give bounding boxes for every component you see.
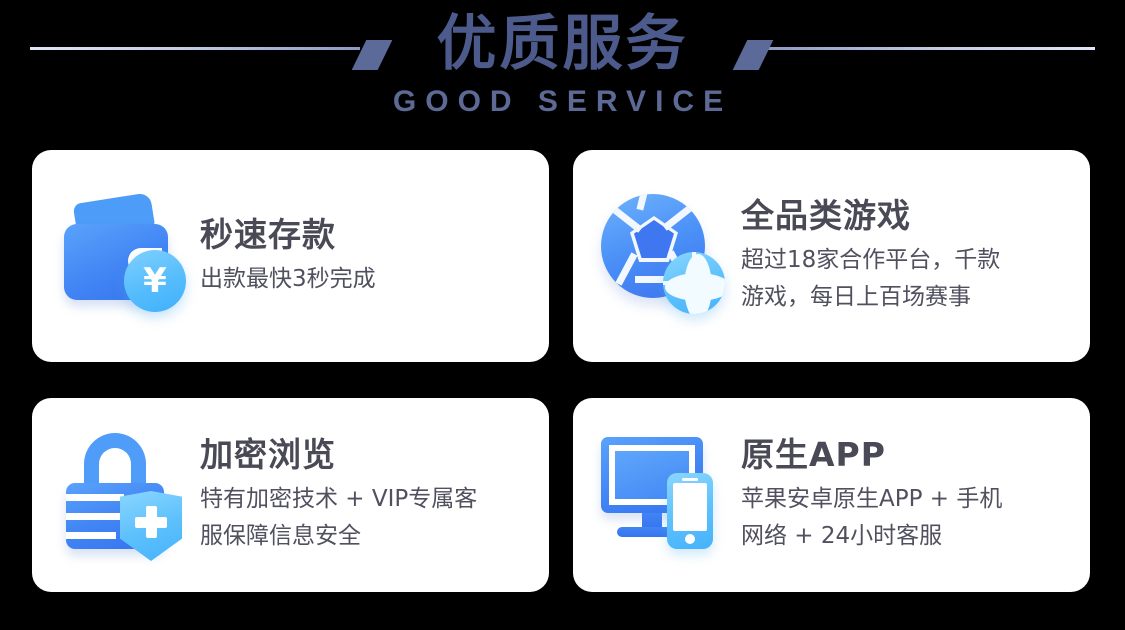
wallet-coin-icon: ¥ bbox=[58, 190, 190, 322]
monitor-phone-icon bbox=[599, 429, 731, 561]
header-text-block: 优质服务 GOOD SERVICE bbox=[0, 6, 1125, 119]
soccer-seam bbox=[611, 206, 642, 232]
lock-shield-icon bbox=[58, 429, 190, 561]
yen-symbol: ¥ bbox=[143, 264, 167, 298]
card-description: 超过18家合作平台，千款 游戏，每日上百场赛事 bbox=[741, 242, 1080, 316]
feature-card-encryption[interactable]: 加密浏览 特有加密技术 + VIP专属客 服保障信息安全 bbox=[32, 398, 549, 592]
card-description: 出款最快3秒完成 bbox=[200, 261, 539, 298]
page-subtitle: GOOD SERVICE bbox=[0, 85, 1125, 119]
feature-card-grid: ¥ 秒速存款 出款最快3秒完成 bbox=[32, 150, 1093, 592]
basketball-icon bbox=[663, 252, 725, 314]
card-description-line: 超过18家合作平台，千款 bbox=[741, 242, 1080, 279]
card-title: 加密浏览 bbox=[200, 435, 539, 475]
soccer-basketball-icon bbox=[599, 190, 731, 322]
phone-home-button bbox=[685, 534, 695, 544]
lock-slot bbox=[66, 494, 124, 501]
banner-header: 优质服务 GOOD SERVICE bbox=[0, 0, 1125, 145]
card-text-native-app: 原生APP 苹果安卓原生APP + 手机 网络 + 24小时客服 bbox=[741, 435, 1080, 555]
promo-banner: 优质服务 GOOD SERVICE ¥ 秒速存款 出款最快3秒完成 bbox=[0, 0, 1125, 630]
card-text-encryption: 加密浏览 特有加密技术 + VIP专属客 服保障信息安全 bbox=[200, 435, 539, 555]
card-description-line: 网络 + 24小时客服 bbox=[741, 518, 1080, 555]
card-description-line: 游戏，每日上百场赛事 bbox=[741, 279, 1080, 316]
card-title: 全品类游戏 bbox=[741, 196, 1080, 236]
card-text-deposit: 秒速存款 出款最快3秒完成 bbox=[200, 215, 539, 298]
page-title: 优质服务 bbox=[0, 6, 1125, 82]
cross-icon bbox=[135, 506, 167, 538]
phone-icon bbox=[667, 473, 713, 549]
feature-card-games[interactable]: 全品类游戏 超过18家合作平台，千款 游戏，每日上百场赛事 bbox=[573, 150, 1090, 362]
card-description-line: 服保障信息安全 bbox=[200, 518, 539, 555]
basketball-curve bbox=[665, 273, 725, 301]
card-description-line: 出款最快3秒完成 bbox=[200, 261, 539, 298]
card-description-line: 特有加密技术 + VIP专属客 bbox=[200, 481, 539, 518]
phone-speaker bbox=[682, 478, 698, 481]
feature-card-deposit[interactable]: ¥ 秒速存款 出款最快3秒完成 bbox=[32, 150, 549, 362]
card-description-line: 苹果安卓原生APP + 手机 bbox=[741, 481, 1080, 518]
lock-slot bbox=[66, 532, 116, 539]
card-text-games: 全品类游戏 超过18家合作平台，千款 游戏，每日上百场赛事 bbox=[741, 196, 1080, 316]
card-title: 秒速存款 bbox=[200, 215, 539, 255]
soccer-seam bbox=[636, 194, 648, 211]
soccer-seam bbox=[662, 204, 693, 230]
card-description: 特有加密技术 + VIP专属客 服保障信息安全 bbox=[200, 481, 539, 555]
phone-screen bbox=[673, 483, 707, 531]
yen-coin-icon: ¥ bbox=[124, 250, 186, 312]
shield-icon bbox=[120, 491, 182, 561]
card-description: 苹果安卓原生APP + 手机 网络 + 24小时客服 bbox=[741, 481, 1080, 555]
feature-card-native-app[interactable]: 原生APP 苹果安卓原生APP + 手机 网络 + 24小时客服 bbox=[573, 398, 1090, 592]
card-title: 原生APP bbox=[741, 435, 1080, 475]
